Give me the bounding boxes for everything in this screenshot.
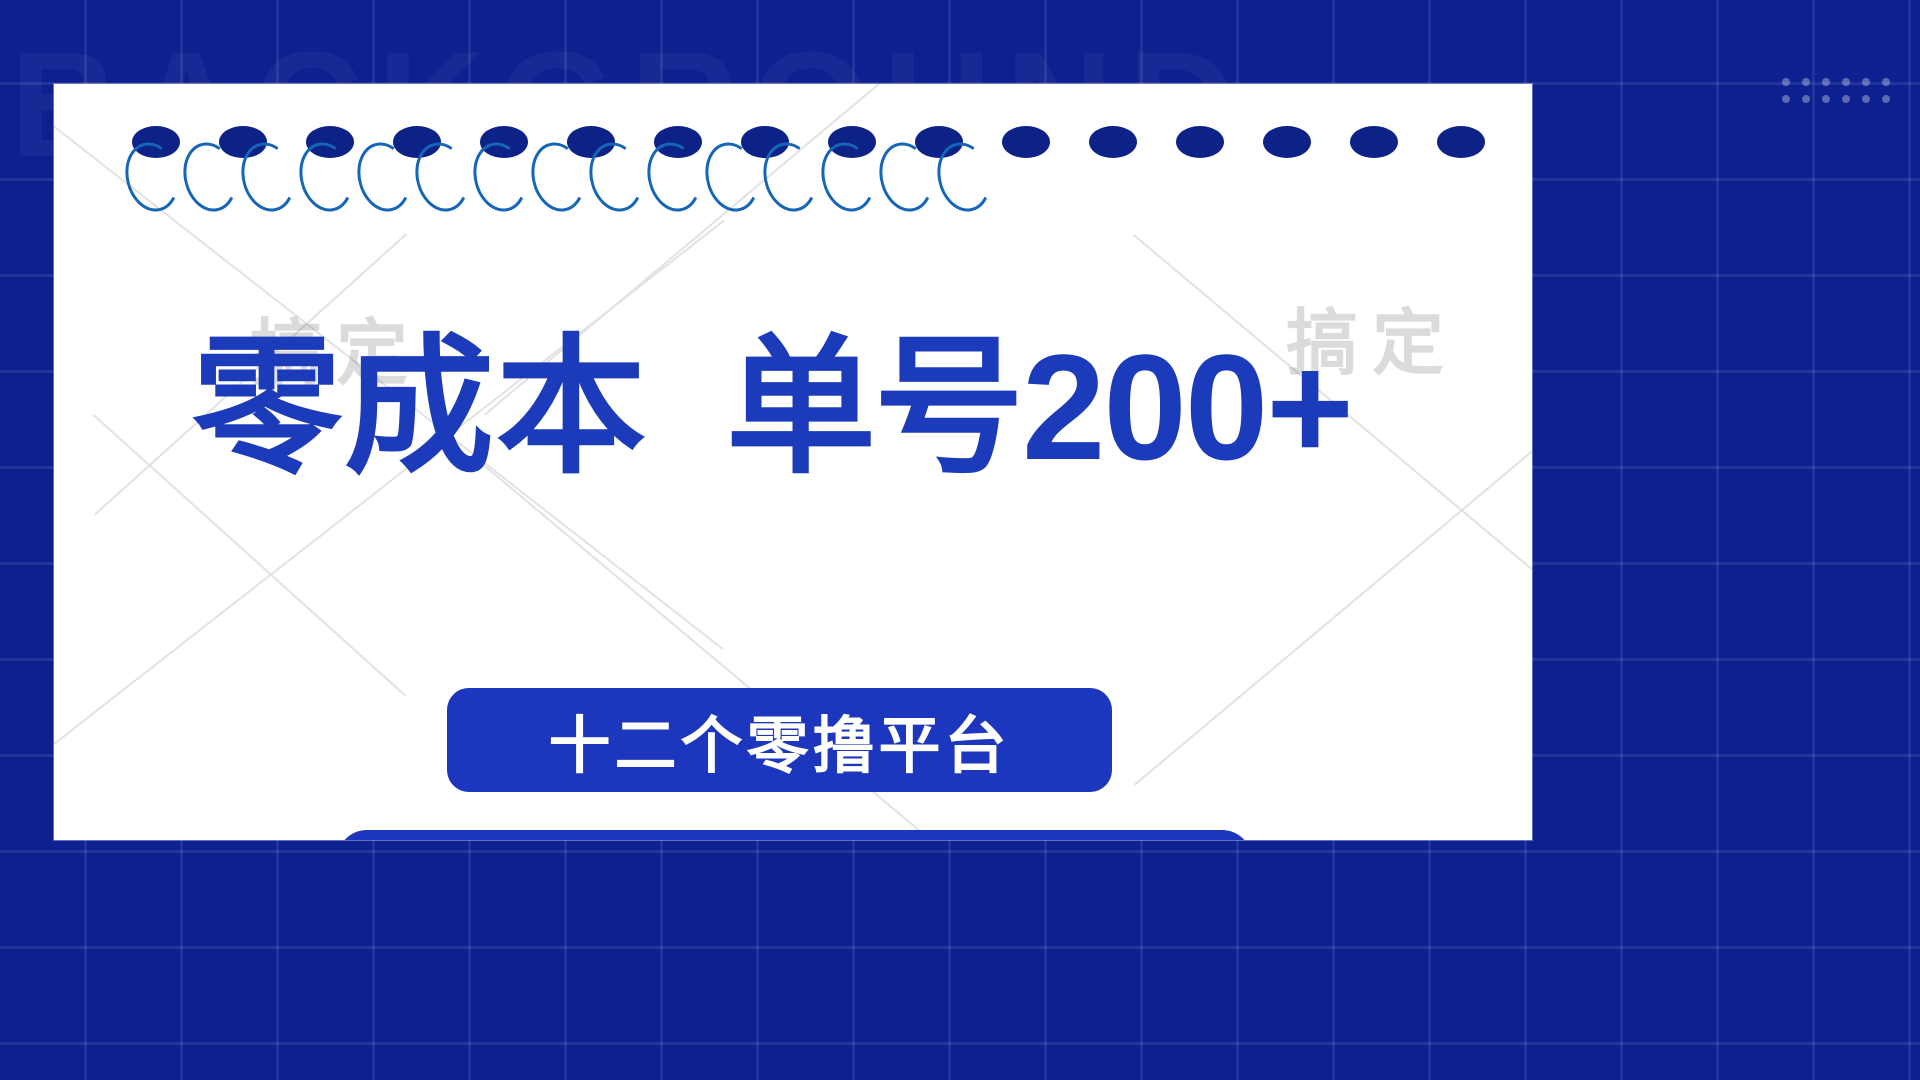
binding-hole [1350,126,1398,158]
binding-ring [582,137,649,218]
binding-ring [408,137,475,218]
binding-rings [126,142,1006,212]
headline-part-one: 零成本 [192,332,648,482]
decor-dot [1782,95,1790,103]
binding-ring [640,137,707,218]
headline-part-two: 单号200+ [726,332,1352,482]
binding-hole [1002,126,1050,158]
binding-hole [1176,126,1224,158]
decor-dot [1842,78,1850,86]
guide-line [1134,450,1532,786]
feature-pill-phone-only[interactable]: 有手机就能做 [337,830,1252,840]
binding-ring [814,137,881,218]
decor-dot [1802,95,1810,103]
binding-hole [1089,126,1137,158]
binding-ring [756,137,823,218]
binding-ring [292,137,359,218]
feature-pill-platforms[interactable]: 十二个零撸平台 [447,688,1112,792]
decor-dot [1862,95,1870,103]
poster-canvas: BACKGROUND 搞定 搞定 © 零成本 单号200+ 十二个零撸平台 有手… [0,0,1920,1080]
decor-dot [1822,78,1830,86]
background-dot-decoration [1782,78,1902,112]
binding-hole [1263,126,1311,158]
decor-dot [1842,95,1850,103]
binding-ring [872,137,939,218]
paper-card: 搞定 搞定 © 零成本 单号200+ 十二个零撸平台 有手机就能做 [54,84,1532,840]
binding-ring [698,137,765,218]
decor-dot [1882,78,1890,86]
binding-ring [234,137,301,218]
binding-ring [466,137,533,218]
headline: 零成本 单号200+ [192,332,1492,482]
decor-dot [1802,78,1810,86]
binding-hole [1437,126,1485,158]
decor-dot [1862,78,1870,86]
binding-ring [930,137,997,218]
binding-ring [118,137,185,218]
decor-dot [1882,95,1890,103]
binding-ring [524,137,591,218]
decor-dot [1782,78,1790,86]
binding-ring [176,137,243,218]
decor-dot [1822,95,1830,103]
binding-ring [350,137,417,218]
